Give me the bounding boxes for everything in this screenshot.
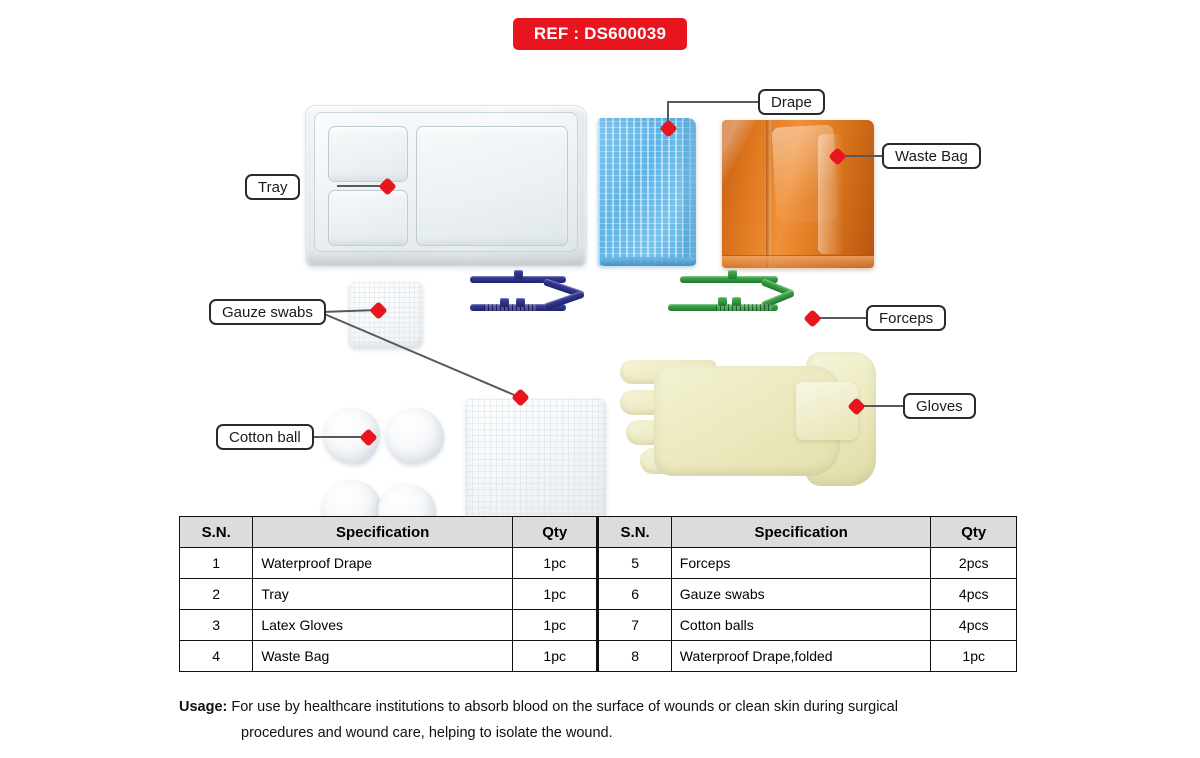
callout-tray[interactable]: Tray: [245, 174, 300, 200]
callout-forceps[interactable]: Forceps: [866, 305, 946, 331]
callout-gauze-swabs[interactable]: Gauze swabs: [209, 299, 326, 325]
product-spec-sheet: REF : DS600039: [0, 0, 1200, 758]
callout-drape[interactable]: Drape: [758, 89, 825, 115]
callout-gloves[interactable]: Gloves: [903, 393, 976, 419]
callout-waste-bag[interactable]: Waste Bag: [882, 143, 981, 169]
callout-cotton-ball[interactable]: Cotton ball: [216, 424, 314, 450]
callout-leader-lines: [0, 0, 1200, 758]
